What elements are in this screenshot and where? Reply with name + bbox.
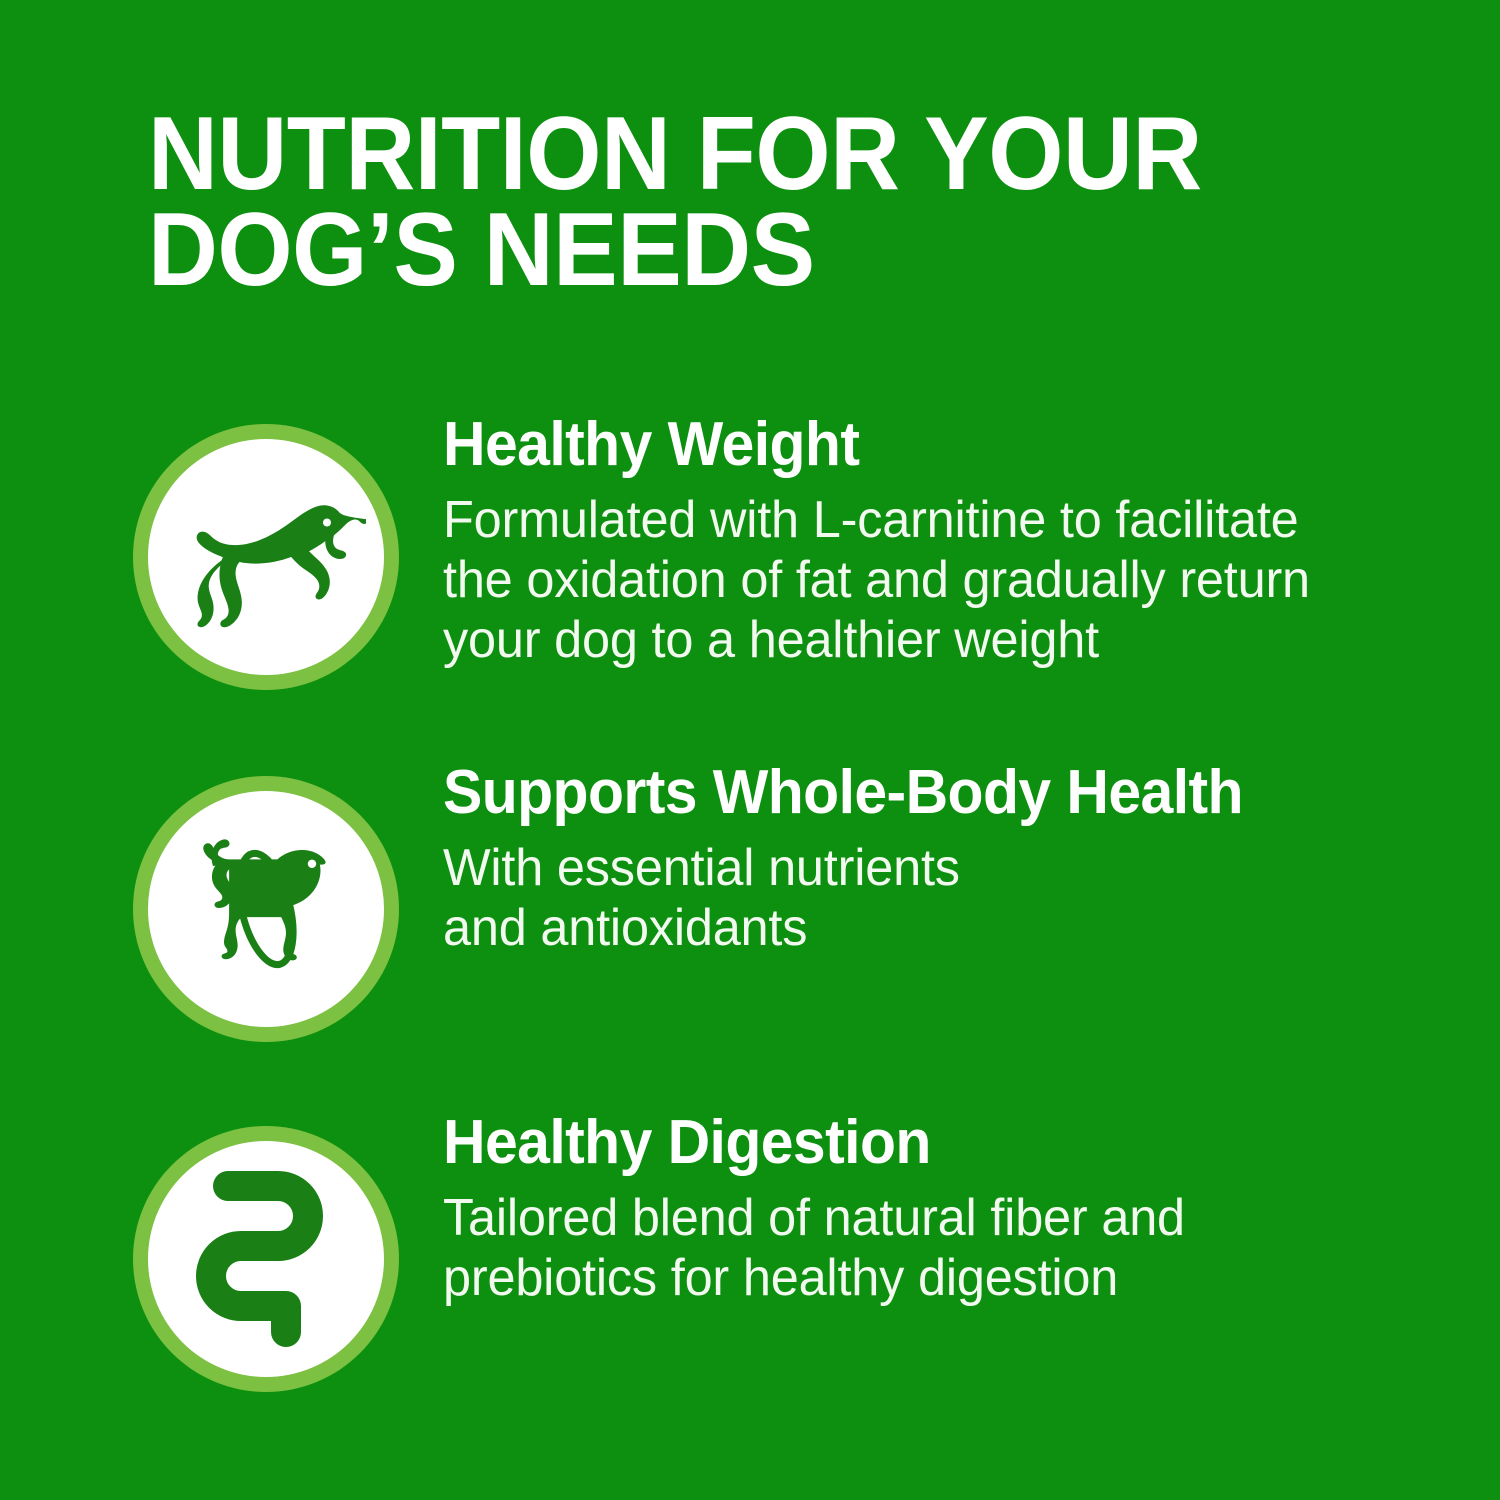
feature-item-healthy-weight: Healthy Weight Formulated with L-carniti… xyxy=(0,408,1500,760)
feature-description: Formulated with L-carnitine to facilitat… xyxy=(443,490,1453,670)
feature-description-line: Formulated with L-carnitine to facilitat… xyxy=(443,490,1423,550)
feature-text-healthy-weight: Healthy Weight Formulated with L-carniti… xyxy=(443,410,1453,670)
page-title-line-1: NUTRITION FOR YOUR xyxy=(148,106,1311,202)
page-title: NUTRITION FOR YOUR DOG’S NEEDS xyxy=(148,106,1398,298)
feature-description: With essential nutrients and antioxidant… xyxy=(443,838,1453,958)
feature-list: Healthy Weight Formulated with L-carniti… xyxy=(0,408,1500,1460)
feature-heading: Healthy Digestion xyxy=(443,1108,1403,1178)
feature-description-line: Tailored blend of natural fiber and xyxy=(443,1188,1423,1248)
dog-with-orbit-ring-icon xyxy=(148,791,384,1027)
feature-item-healthy-digestion: Healthy Digestion Tailored blend of natu… xyxy=(0,1110,1500,1460)
feature-item-whole-body-health: Supports Whole-Body Health With essentia… xyxy=(0,760,1500,1110)
feature-icon-healthy-weight xyxy=(133,424,399,690)
intestine-icon xyxy=(148,1141,384,1377)
feature-text-healthy-digestion: Healthy Digestion Tailored blend of natu… xyxy=(443,1108,1453,1308)
feature-icon-healthy-digestion xyxy=(133,1126,399,1392)
feature-text-whole-body-health: Supports Whole-Body Health With essentia… xyxy=(443,758,1453,958)
feature-heading: Healthy Weight xyxy=(443,410,1403,480)
feature-description-line: your dog to a healthier weight xyxy=(443,610,1423,670)
page-title-line-2: DOG’S NEEDS xyxy=(148,202,1311,298)
feature-description-line: the oxidation of fat and gradually retur… xyxy=(443,550,1423,610)
feature-heading: Supports Whole-Body Health xyxy=(443,758,1403,828)
feature-description: Tailored blend of natural fiber and preb… xyxy=(443,1188,1453,1308)
jumping-dog-icon xyxy=(148,439,384,675)
feature-description-line: and antioxidants xyxy=(443,898,1423,958)
feature-description-line: prebiotics for healthy digestion xyxy=(443,1248,1423,1308)
feature-description-line: With essential nutrients xyxy=(443,838,1423,898)
product-benefits-panel: NUTRITION FOR YOUR DOG’S NEEDS Healthy W… xyxy=(0,0,1500,1500)
feature-icon-whole-body-health xyxy=(133,776,399,1042)
